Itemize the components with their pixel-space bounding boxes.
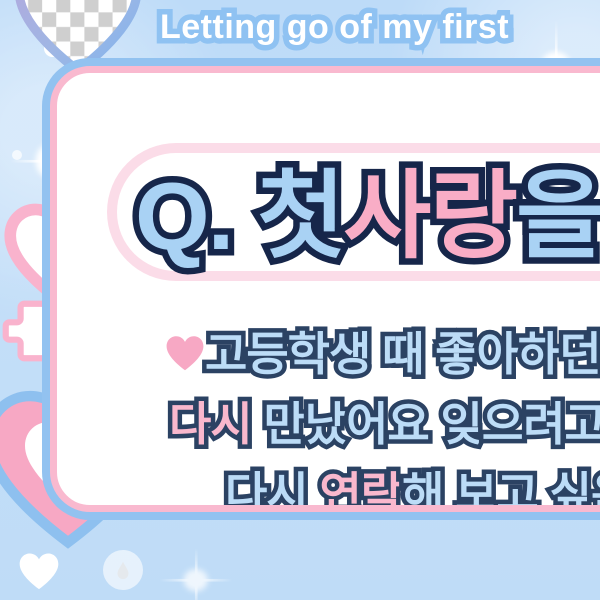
glyph: 때 <box>382 331 423 377</box>
glyph: 좋 <box>435 331 476 377</box>
glyph: 던 <box>559 331 600 377</box>
glyph: 려 <box>523 401 564 447</box>
body-line: 다시 만났어요 잊으려고 했 <box>169 401 600 447</box>
glyph: 은 <box>591 471 600 512</box>
circle-badge-icon <box>103 550 143 590</box>
glyph: 랑 <box>430 169 516 265</box>
glyph <box>252 401 264 447</box>
glyph: 잊 <box>441 401 482 447</box>
glyph <box>370 331 382 377</box>
heart-bullet-icon <box>165 335 205 372</box>
glyph <box>443 471 455 512</box>
glyph: 만 <box>263 401 304 447</box>
glyph: 어 <box>346 401 387 447</box>
glyph: 시 <box>266 471 307 512</box>
glyph <box>423 331 435 377</box>
glyph: 학 <box>288 331 329 377</box>
glyph: Q <box>135 169 208 265</box>
glyph: 첫 <box>257 169 343 265</box>
glyph: 다 <box>225 471 266 512</box>
dot-decoration <box>12 150 22 160</box>
poster-canvas: Q. 첫사랑을다시 고등학생 때 좋아하던 첫 다시 만났어요 잊으려고 했 다… <box>0 0 600 600</box>
glyph: 났 <box>305 401 346 447</box>
glyph: 생 <box>329 331 370 377</box>
glyph: 등 <box>246 331 287 377</box>
glyph: 고 <box>205 331 246 377</box>
glyph: 을 <box>516 169 600 265</box>
body-line: 고등학생 때 좋아하던 첫 <box>205 331 600 377</box>
glyph: 다 <box>169 401 210 447</box>
glyph: 해 <box>402 471 443 512</box>
content-card: Q. 첫사랑을다시 고등학생 때 좋아하던 첫 다시 만났어요 잊으려고 했 다… <box>50 66 600 512</box>
glyph: 락 <box>361 471 402 512</box>
glyph: 보 <box>455 471 496 512</box>
glyph <box>538 471 550 512</box>
glyph <box>232 169 257 265</box>
glyph: 싶 <box>550 471 591 512</box>
glyph: 시 <box>210 401 251 447</box>
glyph <box>308 471 320 512</box>
glyph <box>429 401 441 447</box>
body-line: 다시 연락해 보고 싶은데 <box>225 471 600 512</box>
glyph: 아 <box>477 331 518 377</box>
glyph: 고 <box>497 471 538 512</box>
banner-caption: Letting go of my first <box>160 8 509 47</box>
glyph: 으 <box>482 401 523 447</box>
glyph: 연 <box>319 471 360 512</box>
glyph: 고 <box>565 401 600 447</box>
white-heart-icon <box>18 552 60 591</box>
card-title: Q. 첫사랑을다시 <box>135 169 600 265</box>
glyph: 사 <box>343 169 429 265</box>
glyph: 하 <box>518 331 559 377</box>
glyph: . <box>208 169 233 265</box>
glyph: 요 <box>387 401 428 447</box>
checkered-heart-icon <box>14 0 142 76</box>
